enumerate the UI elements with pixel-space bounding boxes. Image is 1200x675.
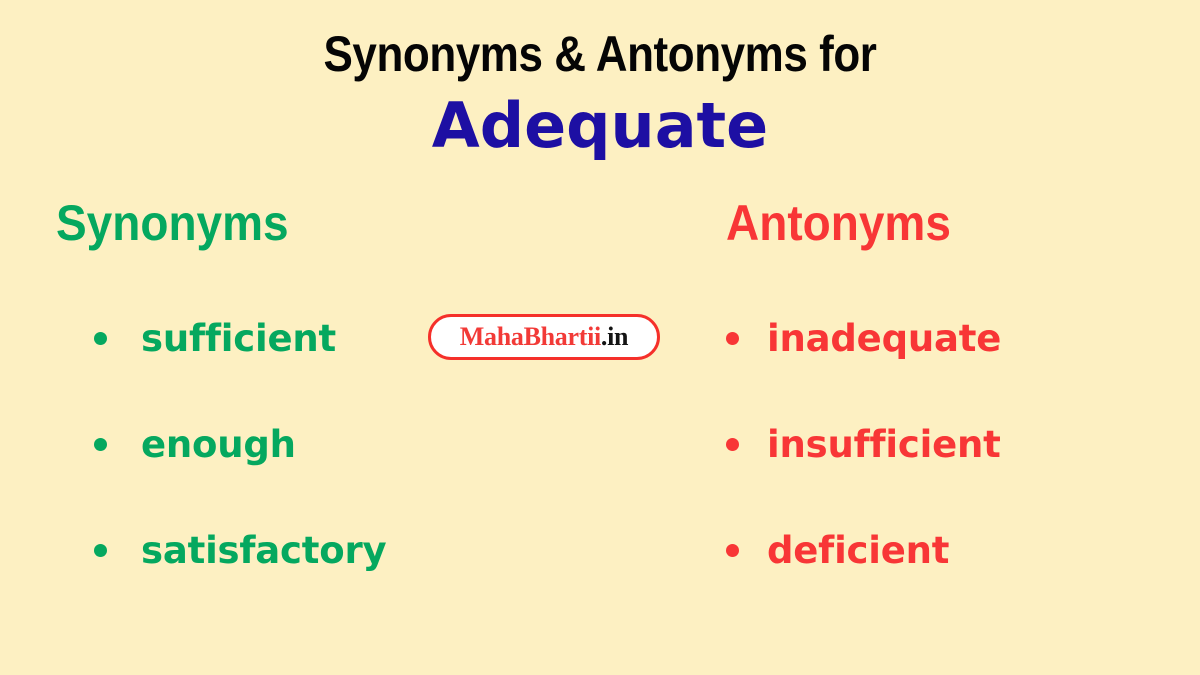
list-item: enough	[46, 391, 466, 497]
synonym-label: satisfactory	[141, 532, 386, 569]
word-columns: Synonyms sufficient enough satisfactory …	[0, 196, 1200, 666]
list-item: satisfactory	[46, 497, 466, 603]
antonyms-list: inadequate insufficient deficient	[700, 285, 1130, 603]
watermark-brand: MahaBhartii	[460, 322, 601, 351]
bullet-dot-icon	[726, 438, 739, 451]
page-title: Synonyms & Antonyms for	[72, 26, 1128, 82]
bullet-dot-icon	[94, 438, 107, 451]
header: Synonyms & Antonyms for Adequate	[0, 26, 1200, 161]
headword: Adequate	[0, 90, 1200, 161]
list-item: inadequate	[700, 285, 1130, 391]
antonym-label: inadequate	[767, 320, 1001, 357]
bullet-dot-icon	[94, 544, 107, 557]
list-item: sufficient	[46, 285, 466, 391]
watermark-tld: .in	[601, 322, 628, 351]
bullet-dot-icon	[94, 332, 107, 345]
watermark-text: MahaBhartii.in	[460, 324, 628, 350]
synonyms-list: sufficient enough satisfactory	[46, 285, 466, 603]
synonym-label: enough	[141, 426, 296, 463]
antonym-label: deficient	[767, 532, 949, 569]
watermark-badge: MahaBhartii.in	[428, 314, 660, 360]
antonyms-heading: Antonyms	[726, 196, 1098, 251]
bullet-dot-icon	[726, 544, 739, 557]
synonym-label: sufficient	[141, 320, 336, 357]
list-item: deficient	[700, 497, 1130, 603]
infographic-card: Synonyms & Antonyms for Adequate Synonym…	[0, 0, 1200, 675]
list-item: insufficient	[700, 391, 1130, 497]
antonym-label: insufficient	[767, 426, 1001, 463]
antonyms-column: Antonyms inadequate insufficient deficie…	[700, 196, 1130, 603]
bullet-dot-icon	[726, 332, 739, 345]
synonyms-heading: Synonyms	[56, 196, 433, 251]
synonyms-column: Synonyms sufficient enough satisfactory	[46, 196, 466, 603]
